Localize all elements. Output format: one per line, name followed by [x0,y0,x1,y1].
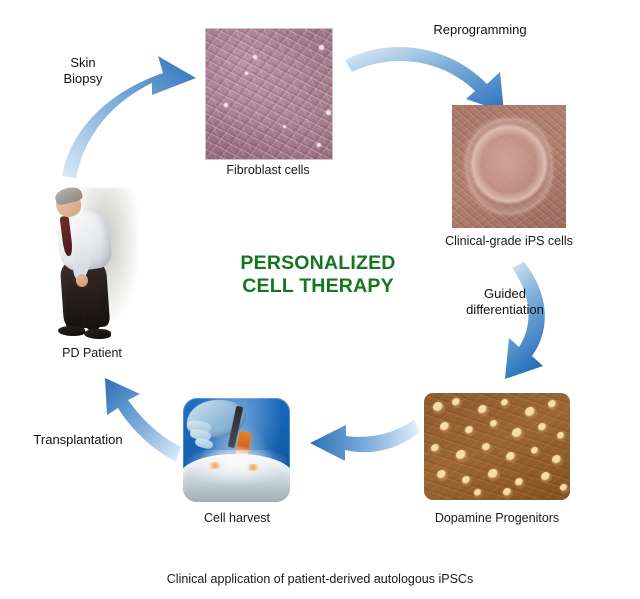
page-title-line1: PERSONALIZED [233,252,403,275]
patient-shoe-front [84,329,111,339]
step-guided-differentiation-label: Guided differentiation [445,286,565,318]
pd-patient-image [36,182,148,342]
harvest-image [183,398,290,502]
step-skin-biopsy-line2: Biopsy [48,71,118,87]
figure-caption: Clinical application of patient-derived … [0,572,640,586]
ips-colony [466,119,553,215]
patient-hand [76,274,88,287]
ips-image [452,105,566,228]
diagram-canvas: PD Patient Fibroblast cells Clinical-gra… [0,0,640,599]
pd-patient-label: PD Patient [19,346,165,361]
step-guided-line2: differentiation [445,302,565,318]
step-reprogramming-label: Reprogramming [400,22,560,38]
step-skin-biopsy-label: Skin Biopsy [48,55,118,87]
step-guided-line1: Guided [445,286,565,302]
patient-leg-front [83,286,102,331]
patient-shoe-back [58,326,85,336]
fibroblast-label: Fibroblast cells [193,163,343,178]
dopamine-image [424,393,570,500]
arrow-transplantation [105,378,181,462]
dopamine-label: Dopamine Progenitors [421,511,573,526]
arrow-harvest [310,420,420,461]
nitrogen-mist [183,450,290,487]
page-title-line2: CELL THERAPY [233,275,403,298]
arrow-guided-differentiation [505,262,545,379]
fibroblast-image [205,28,333,160]
harvest-label: Cell harvest [162,511,312,526]
ips-label: Clinical-grade iPS cells [433,234,585,249]
step-transplantation-label: Transplantation [18,432,138,448]
arrow-reprogramming [345,47,504,112]
page-title: PERSONALIZED CELL THERAPY [233,252,403,298]
step-skin-biopsy-line1: Skin [48,55,118,71]
